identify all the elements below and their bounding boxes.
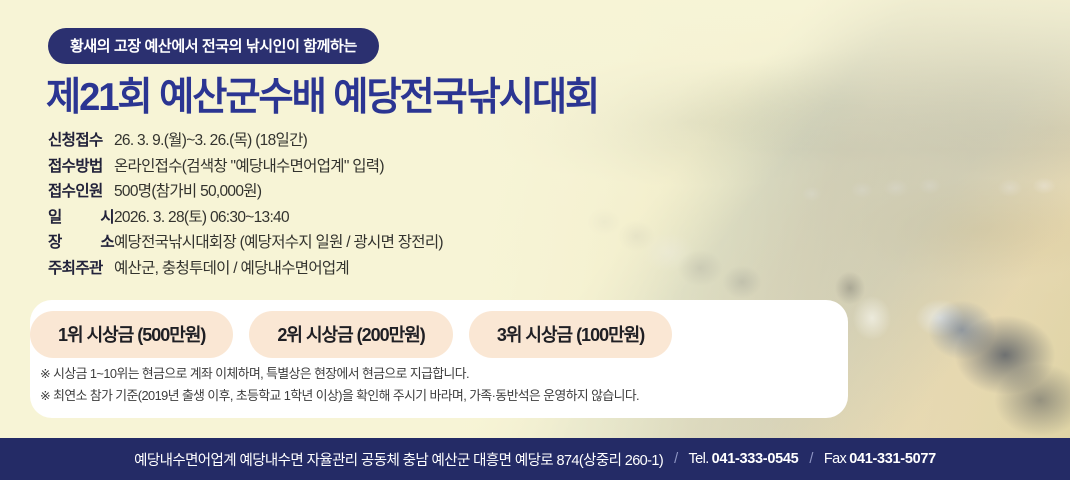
info-value: 예당전국낚시대회장 (예당저수지 일원 / 광시면 장전리) — [114, 230, 443, 252]
footer-separator: / — [674, 451, 677, 467]
info-value: 2026. 3. 28(토) 06:30~13:40 — [114, 205, 289, 227]
footer-fax-label: Fax — [824, 451, 846, 467]
footer-fax-number: 041-331-5077 — [849, 451, 936, 467]
info-label: 주최주관 — [48, 256, 114, 278]
info-value: 26. 3. 9.(월)~3. 26.(목) (18일간) — [114, 128, 307, 150]
info-row: 접수방법 온라인접수(검색창 "예당내수면어업계" 입력) — [48, 154, 443, 176]
info-label: 장 소 — [48, 230, 114, 252]
info-value: 500명(참가비 50,000원) — [114, 179, 261, 201]
prize-pill-1st: 1위 시상금 (500만원) — [30, 311, 233, 358]
info-label-part: 시 — [100, 205, 114, 227]
notice-list: ※ 시상금 1~10위는 현금으로 계좌 이체하며, 특별상은 현장에서 현금으… — [40, 363, 639, 408]
info-row: 장 소 예당전국낚시대회장 (예당저수지 일원 / 광시면 장전리) — [48, 230, 443, 252]
info-row: 주최주관 예산군, 충청투데이 / 예당내수면어업계 — [48, 256, 443, 278]
info-row: 일 시 2026. 3. 28(토) 06:30~13:40 — [48, 205, 443, 227]
info-label-part: 소 — [100, 230, 114, 252]
info-label: 접수방법 — [48, 154, 114, 176]
footer-address: 예당내수면어업계 예당내수면 자율관리 공동체 충남 예산군 대흥면 예당로 8… — [134, 449, 663, 470]
prize-pill-group: 1위 시상금 (500만원) 2위 시상금 (200만원) 3위 시상금 (10… — [30, 311, 672, 358]
poster-banner: 황새의 고장 예산에서 전국의 낚시인이 함께하는 제21회 예산군수배 예당전… — [0, 0, 1070, 480]
footer-contact-bar: 예당내수면어업계 예당내수면 자율관리 공동체 충남 예산군 대흥면 예당로 8… — [0, 438, 1070, 480]
info-label-part: 일 — [48, 205, 62, 227]
info-value: 온라인접수(검색창 "예당내수면어업계" 입력) — [114, 154, 384, 176]
notice-line: ※ 최연소 참가 기준(2019년 출생 이후, 초등학교 1학년 이상)을 확… — [40, 385, 639, 407]
info-label: 일 시 — [48, 205, 114, 227]
notice-line: ※ 시상금 1~10위는 현금으로 계좌 이체하며, 특별상은 현장에서 현금으… — [40, 363, 639, 385]
info-label: 접수인원 — [48, 179, 114, 201]
footer-separator: / — [809, 451, 812, 467]
info-value: 예산군, 충청투데이 / 예당내수면어업계 — [114, 256, 349, 278]
page-title: 제21회 예산군수배 예당전국낚시대회 — [46, 66, 598, 122]
footer-tel-label: Tel. — [689, 451, 709, 467]
prize-pill-2nd: 2위 시상금 (200만원) — [249, 311, 452, 358]
poster-content: 황새의 고장 예산에서 전국의 낚시인이 함께하는 제21회 예산군수배 예당전… — [0, 0, 1070, 480]
footer-tel-number[interactable]: 041-333-0545 — [712, 451, 799, 467]
info-label-part: 장 — [48, 230, 62, 252]
info-row: 신청접수 26. 3. 9.(월)~3. 26.(목) (18일간) — [48, 128, 443, 150]
event-info-list: 신청접수 26. 3. 9.(월)~3. 26.(목) (18일간) 접수방법 … — [48, 128, 443, 281]
tagline-badge: 황새의 고장 예산에서 전국의 낚시인이 함께하는 — [48, 28, 379, 64]
prize-pill-3rd: 3위 시상금 (100만원) — [469, 311, 672, 358]
info-label: 신청접수 — [48, 128, 114, 150]
info-row: 접수인원 500명(참가비 50,000원) — [48, 179, 443, 201]
